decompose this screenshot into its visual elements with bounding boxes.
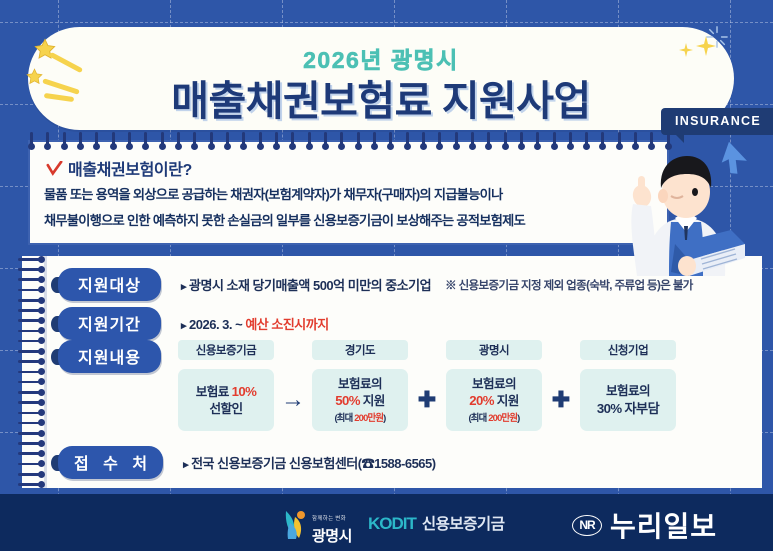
card-line2-plain: 지원	[494, 394, 519, 408]
sparkle-icon	[679, 43, 693, 62]
card-rate: 50%	[335, 393, 360, 408]
contact-text: ▸전국 신용보증기금 신용보험센터(☎1588-6565)	[183, 453, 436, 472]
description-line-2: 채무불이행으로 인한 예측하지 못한 손실금의 일부를 신용보증기금이 보상해주…	[44, 210, 525, 229]
description-line-1: 물품 또는 용역을 외상으로 공급하는 채권자(보험계약자)가 채무자(구매자)…	[44, 184, 503, 203]
kodit-mark: KODIT	[368, 514, 416, 534]
notepad-rings	[30, 132, 670, 145]
description-heading: 매출채권보험이란?	[46, 156, 192, 181]
card-sub-cap: 200만원	[354, 412, 383, 423]
card-body: 보험료 10% 선할인	[178, 369, 274, 431]
label-support-content: 지원내용	[58, 340, 161, 373]
card-rate: 20%	[469, 393, 494, 408]
support-target-note-text: 신용보증기금 지정 제외 업종(숙박, 주류업 등)은 불가	[459, 280, 693, 292]
cursor-arrow-icon	[721, 142, 751, 181]
card-kodit: 신용보증기금 보험료 10% 선할인	[178, 340, 274, 431]
kodit-logo: KODIT 신용보증기금	[368, 512, 504, 534]
poster-title: 매출채권보험료지원사업	[28, 67, 734, 127]
label-contact: 접 수 처	[58, 446, 163, 479]
sparkle-icon	[706, 26, 728, 53]
card-line1-red: 10%	[232, 384, 257, 399]
operator-arrow-icon: →	[274, 340, 312, 431]
card-line1: 보험료의	[338, 376, 382, 392]
description-heading-text: 매출채권보험이란?	[68, 162, 192, 179]
bullet-icon: ▸	[181, 281, 186, 293]
card-line1: 보험료의	[472, 376, 516, 392]
card-line1-plain: 보험료	[196, 385, 232, 399]
label-support-target: 지원대상	[58, 268, 161, 301]
card-body: 보험료의 20% 지원 (최대 200만원)	[446, 369, 542, 431]
poster-canvas: 2026년 광명시 매출채권보험료지원사업 INSURANCE	[0, 0, 773, 551]
title-part-2: 지원사업	[442, 78, 591, 124]
bullet-icon: ▸	[183, 459, 188, 471]
card-sub-cap: 200만원	[488, 412, 517, 423]
card-line2-plain: 지원	[360, 394, 385, 408]
card-sub: (최대 200만원)	[468, 412, 519, 424]
title-part-1: 매출채권보험료	[171, 78, 432, 124]
insurance-tab: INSURANCE	[661, 108, 773, 135]
support-period-end: 예산 소진시까지	[245, 317, 328, 332]
row-contact: 접 수 처 ▸전국 신용보증기금 신용보험센터(☎1588-6565)	[58, 446, 436, 479]
gwangmyeong-name: 광명시	[312, 528, 352, 545]
description-card: 매출채권보험이란? 물품 또는 용역을 외상으로 공급하는 채권자(보험계약자)…	[28, 140, 669, 245]
grid-line-h	[0, 22, 773, 23]
note-icon: ※	[445, 280, 456, 292]
footer-bar: 함께하는 변화 광명시 KODIT 신용보증기금 NR 누리일보	[0, 494, 773, 551]
row-support-content: 지원내용	[58, 340, 161, 373]
operator-plus-icon: ✚	[542, 340, 580, 431]
check-icon	[46, 161, 63, 181]
card-gwangmyeong: 광명시 보험료의 20% 지원 (최대 200만원)	[446, 340, 542, 431]
card-line2: 선할인	[210, 401, 243, 417]
support-period-start: 2026. 3. ~	[189, 317, 245, 332]
row-support-target: 지원대상 ▸광명시 소재 당기매출액 500억 미만의 중소기업 ※ 신용보증기…	[58, 268, 693, 301]
support-period-text: ▸2026. 3. ~ 예산 소진시까지	[181, 314, 329, 333]
card-header: 신청기업	[580, 340, 676, 360]
support-content-cards: 신용보증기금 보험료 10% 선할인 → 경기도 보험료의 50% 지원 (최대…	[178, 340, 676, 431]
label-support-period: 지원기간	[58, 307, 161, 340]
contact-value: 전국 신용보증기금 신용보험센터(☎1588-6565)	[191, 456, 436, 471]
support-target-value: 광명시 소재 당기매출액 500억 미만의 중소기업	[189, 278, 431, 293]
card-header: 신용보증기금	[178, 340, 274, 360]
gwangmyeong-tagline: 함께하는 변화	[312, 516, 346, 522]
row-support-period: 지원기간 ▸2026. 3. ~ 예산 소진시까지	[58, 307, 329, 340]
card-gyeonggi: 경기도 보험료의 50% 지원 (최대 200만원)	[312, 340, 408, 431]
star-icon	[26, 68, 43, 85]
bullet-icon: ▸	[181, 320, 186, 332]
support-target-text: ▸광명시 소재 당기매출액 500억 미만의 중소기업	[181, 275, 431, 294]
card-line2: 30% 자부담	[597, 400, 659, 417]
card-applicant: 신청기업 보험료의 30% 자부담	[580, 340, 676, 431]
card-header: 경기도	[312, 340, 408, 360]
title-bubble: 2026년 광명시 매출채권보험료지원사업	[28, 27, 734, 130]
spiral-binding-icon	[18, 258, 44, 486]
operator-plus-icon: ✚	[408, 340, 446, 431]
card-body: 보험료의 30% 자부담	[580, 369, 676, 431]
card-body: 보험료의 50% 지원 (최대 200만원)	[312, 369, 408, 431]
support-target-note: ※ 신용보증기금 지정 제외 업종(숙박, 주류업 등)은 불가	[445, 277, 693, 293]
nuri-badge-icon: NR	[572, 515, 602, 536]
card-sub: (최대 200만원)	[334, 412, 385, 424]
nuri-ilbo-logo: NR 누리일보	[572, 505, 717, 545]
gwangmyeong-logo: 함께하는 변화 광명시	[282, 507, 352, 546]
gwangmyeong-logo-icon	[282, 509, 308, 544]
kodit-name: 신용보증기금	[422, 512, 505, 534]
card-line1: 보험료의	[606, 383, 650, 399]
nuri-name: 누리일보	[610, 505, 717, 545]
card-header: 광명시	[446, 340, 542, 360]
